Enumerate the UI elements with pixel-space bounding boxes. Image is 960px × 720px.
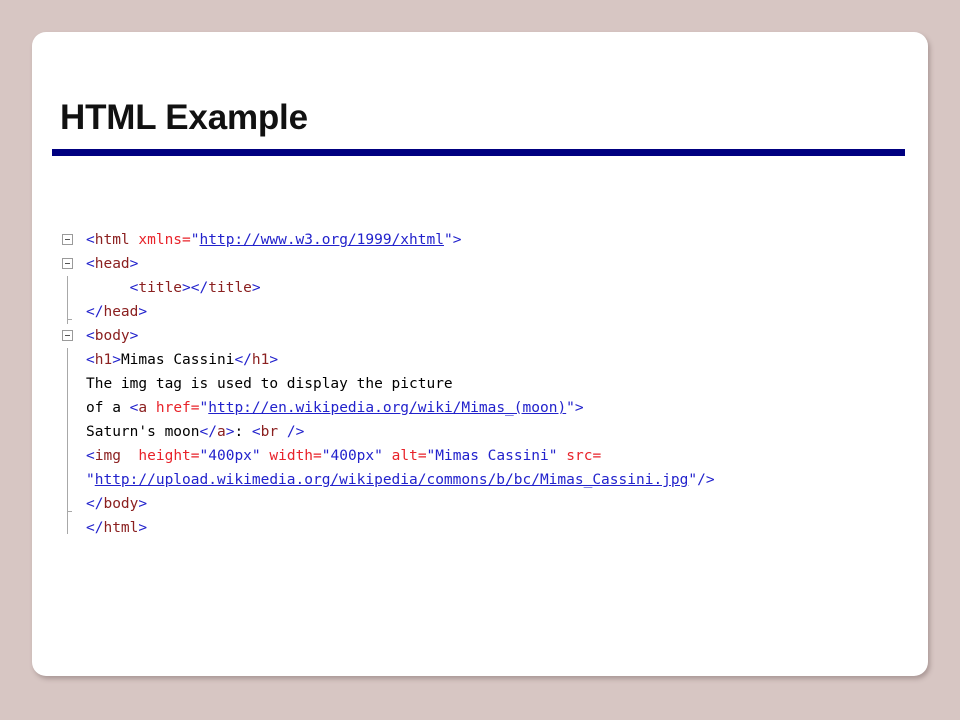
code-token: </	[234, 352, 251, 368]
code-line: of a <a href="http://en.wikipedia.org/wi…	[60, 396, 715, 420]
code-line: </body>	[60, 492, 715, 516]
code-token: h1	[252, 352, 269, 368]
code-token: >	[138, 496, 147, 512]
code-token: >	[112, 352, 121, 368]
code-token: title	[138, 280, 182, 296]
code-token: head	[95, 256, 130, 272]
code-token: h1	[95, 352, 112, 368]
indent-guide	[67, 300, 68, 324]
code-line: </head>	[60, 300, 715, 324]
fold-toggle-icon[interactable]	[62, 234, 73, 245]
code-token: >	[269, 352, 278, 368]
code-token: =	[191, 448, 200, 464]
code-line: <h1>Mimas Cassini</h1>	[60, 348, 715, 372]
code-token: <	[86, 256, 95, 272]
code-line: </html>	[60, 516, 715, 540]
code-token: html	[103, 520, 138, 536]
code-token: </	[191, 280, 208, 296]
code-token: :	[234, 424, 251, 440]
code-token[interactable]: http://www.w3.org/1999/xhtml	[200, 232, 444, 248]
page-title: HTML Example	[60, 98, 308, 138]
code-token: >	[575, 400, 584, 416]
code-token	[121, 448, 138, 464]
code-token: img	[95, 448, 121, 464]
code-token: =	[191, 400, 200, 416]
code-token	[147, 400, 156, 416]
code-token: html	[95, 232, 130, 248]
code-token: a	[217, 424, 226, 440]
code-token: href	[156, 400, 191, 416]
code-line: The img tag is used to display the pictu…	[60, 372, 715, 396]
code-token: The img tag is used to display the pictu…	[86, 376, 453, 392]
code-token: of a	[86, 400, 130, 416]
code-token: <	[86, 232, 95, 248]
code-token: <	[86, 352, 95, 368]
indent-guide	[67, 420, 68, 444]
code-token: body	[95, 328, 130, 344]
code-token: >	[130, 328, 139, 344]
code-line: <html xmlns="http://www.w3.org/1999/xhtm…	[60, 228, 715, 252]
code-token: >	[138, 520, 147, 536]
fold-toggle-icon[interactable]	[62, 258, 73, 269]
code-line: <img height="400px" width="400px" alt="M…	[60, 444, 715, 468]
code-token: =	[418, 448, 427, 464]
code-token: "	[86, 472, 95, 488]
code-line: <head>	[60, 252, 715, 276]
code-token: head	[103, 304, 138, 320]
code-token: "400px"	[322, 448, 383, 464]
code-token	[558, 448, 567, 464]
code-token: alt	[392, 448, 418, 464]
code-token: <	[86, 448, 95, 464]
code-token: body	[103, 496, 138, 512]
code-token[interactable]: http://en.wikipedia.org/wiki/Mimas_(moon…	[208, 400, 566, 416]
indent-guide	[67, 468, 68, 492]
code-token: "	[688, 472, 697, 488]
code-token: <	[252, 424, 261, 440]
title-divider	[52, 149, 905, 156]
code-token: "400px"	[200, 448, 261, 464]
code-line: "http://upload.wikimedia.org/wikipedia/c…	[60, 468, 715, 492]
code-token: "	[191, 232, 200, 248]
code-token: "	[200, 400, 209, 416]
code-token: </	[200, 424, 217, 440]
code-token[interactable]: http://upload.wikimedia.org/wikipedia/co…	[95, 472, 689, 488]
indent-guide	[67, 516, 68, 534]
indent-guide	[67, 276, 68, 300]
code-token: =	[592, 448, 601, 464]
code-token: =	[313, 448, 322, 464]
code-token: Saturn's moon	[86, 424, 200, 440]
code-token: <	[86, 328, 95, 344]
code-token: />	[278, 424, 304, 440]
slide-card: HTML Example <html xmlns="http://www.w3.…	[32, 32, 928, 676]
indent-guide	[67, 348, 68, 372]
indent-guide	[67, 396, 68, 420]
code-line: <title></title>	[60, 276, 715, 300]
code-token: "Mimas Cassini"	[427, 448, 558, 464]
code-token: src	[566, 448, 592, 464]
code-line: <body>	[60, 324, 715, 348]
code-token: br	[261, 424, 278, 440]
code-token: >	[453, 232, 462, 248]
code-token: >	[182, 280, 191, 296]
code-token: title	[208, 280, 252, 296]
code-token: "	[566, 400, 575, 416]
code-line: Saturn's moon</a>: <br />	[60, 420, 715, 444]
code-token: height	[138, 448, 190, 464]
code-token: />	[697, 472, 714, 488]
code-token: a	[138, 400, 147, 416]
code-token: Mimas Cassini	[121, 352, 235, 368]
indent-guide	[67, 492, 68, 516]
code-token: </	[86, 520, 103, 536]
code-token: >	[130, 256, 139, 272]
code-token: "	[444, 232, 453, 248]
code-token: width	[269, 448, 313, 464]
code-token: xmlns	[138, 232, 182, 248]
code-token: >	[252, 280, 261, 296]
code-token: </	[86, 304, 103, 320]
code-token: >	[138, 304, 147, 320]
code-listing: <html xmlns="http://www.w3.org/1999/xhtm…	[60, 228, 715, 540]
fold-toggle-icon[interactable]	[62, 330, 73, 341]
indent-guide	[67, 372, 68, 396]
code-token: </	[86, 496, 103, 512]
indent-guide	[67, 444, 68, 468]
code-token	[86, 280, 130, 296]
code-token	[383, 448, 392, 464]
code-token: =	[182, 232, 191, 248]
